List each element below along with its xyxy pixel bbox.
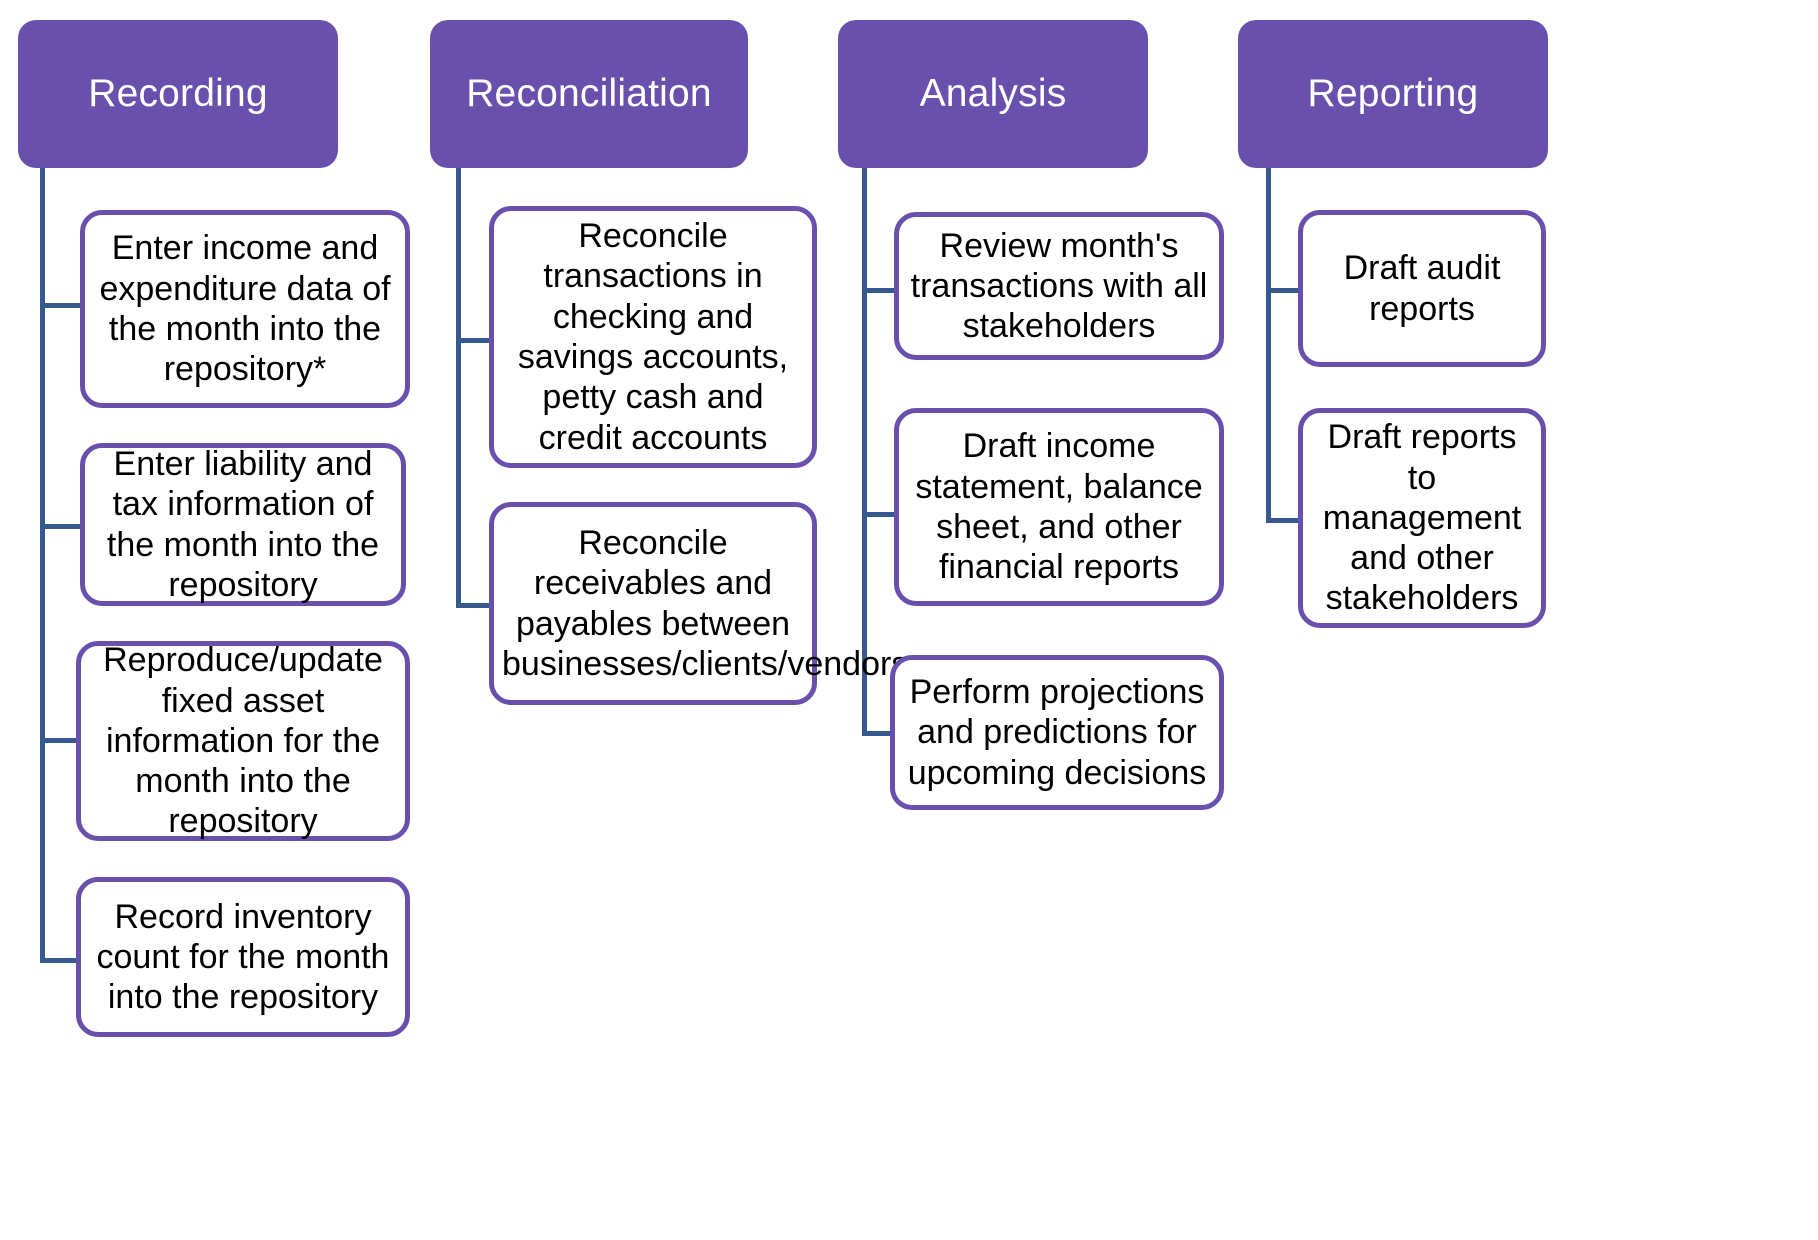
leaf-box[interactable]: Perform projections and predictions for … [890, 655, 1224, 810]
leaf-box-label: Draft audit reports [1311, 248, 1533, 329]
column-header-reporting[interactable]: Reporting [1238, 20, 1548, 168]
connector-stub [1266, 518, 1302, 523]
leaf-box-label: Reconcile receivables and payables betwe… [502, 523, 804, 684]
process-flow-diagram: Recording Enter income and expenditure d… [0, 0, 1818, 1240]
leaf-box-label: Reconcile transactions in checking and s… [502, 216, 804, 458]
leaf-box[interactable]: Reconcile receivables and payables betwe… [489, 502, 817, 705]
leaf-box[interactable]: Record inventory count for the month int… [76, 877, 410, 1037]
connector-stub [1266, 288, 1302, 293]
leaf-box-label: Review month's transactions with all sta… [907, 226, 1211, 347]
column-header-label: Analysis [920, 73, 1067, 116]
leaf-box-label: Record inventory count for the month int… [89, 897, 397, 1018]
leaf-box-label: Draft income statement, balance sheet, a… [907, 426, 1211, 587]
column-header-label: Reconciliation [466, 73, 712, 116]
connector-spine-reporting [1266, 168, 1271, 523]
connector-stub [40, 303, 85, 308]
column-header-reconciliation[interactable]: Reconciliation [430, 20, 748, 168]
column-header-analysis[interactable]: Analysis [838, 20, 1148, 168]
column-header-label: Recording [88, 73, 268, 116]
leaf-box[interactable]: Reproduce/update fixed asset information… [76, 641, 410, 841]
connector-spine-reconciliation [456, 168, 461, 608]
connector-spine-recording [40, 168, 45, 963]
leaf-box[interactable]: Review month's transactions with all sta… [894, 212, 1224, 360]
column-header-recording[interactable]: Recording [18, 20, 338, 168]
leaf-box-label: Enter income and expenditure data of the… [93, 228, 397, 389]
leaf-box[interactable]: Enter liability and tax information of t… [80, 443, 406, 606]
leaf-box[interactable]: Draft audit reports [1298, 210, 1546, 367]
leaf-box[interactable]: Draft income statement, balance sheet, a… [894, 408, 1224, 606]
connector-stub [40, 524, 85, 529]
leaf-box-label: Draft reports to management and other st… [1311, 417, 1533, 618]
leaf-box-label: Perform projections and predictions for … [903, 672, 1211, 793]
leaf-box-label: Reproduce/update fixed asset information… [89, 640, 397, 841]
leaf-box[interactable]: Reconcile transactions in checking and s… [489, 206, 817, 468]
leaf-box[interactable]: Enter income and expenditure data of the… [80, 210, 410, 408]
connector-stub [862, 288, 898, 293]
leaf-box-label: Enter liability and tax information of t… [93, 444, 393, 605]
column-header-label: Reporting [1308, 73, 1479, 116]
connector-stub [862, 512, 898, 517]
leaf-box[interactable]: Draft reports to management and other st… [1298, 408, 1546, 628]
